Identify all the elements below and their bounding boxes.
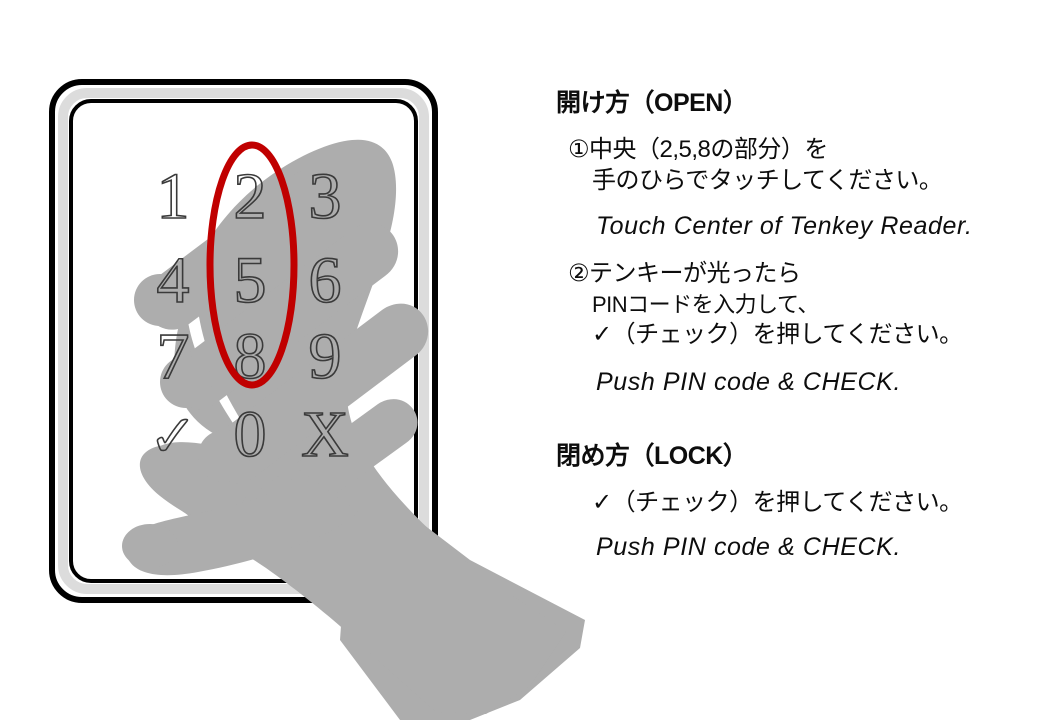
keypad-glyphs: 1 2 3 4 5 6 7 8 9 ✓ 0 X [149,160,349,471]
lock-step-1-english: Push PIN code & CHECK. [596,533,901,562]
key-4[interactable]: 4 [157,244,190,317]
key-5[interactable]: 5 [234,244,267,317]
open-step-2-marker: ② [568,260,589,287]
open-step-2-english: Push PIN code & CHECK. [596,368,901,397]
open-step-2-line-3: ✓（チェック）を押してください。 [592,320,963,351]
key-2[interactable]: 2 [234,160,267,233]
key-6[interactable]: 6 [309,244,342,317]
tenkey-illustration: 1 2 3 4 5 6 7 8 9 ✓ 0 X [0,0,600,720]
key-0[interactable]: 0 [234,398,267,471]
lock-step-1-line-1: ✓（チェック）を押してください。 [592,488,963,519]
instructions-column: 開け方（OPEN） ①中央（2,5,8の部分）を 手のひらでタッチしてください。… [540,0,1040,720]
key-x[interactable]: X [301,398,349,471]
open-step-1-text-1: 中央（2,5,8の部分）を [589,136,828,163]
open-section-heading: 開け方（OPEN） [556,90,747,118]
open-step-1-marker: ① [568,136,589,163]
lock-section-heading: 閉め方（LOCK） [556,443,747,471]
illustration-page: 1 2 3 4 5 6 7 8 9 ✓ 0 X 開け方（OPEN） [0,0,1040,720]
open-step-2-line-2: PINコードを入力して、 [592,291,819,319]
key-1[interactable]: 1 [157,160,190,233]
open-step-2-line-1: ②テンキーが光ったら [568,259,801,290]
open-step-1-line-1: ①中央（2,5,8の部分）を [568,135,828,166]
key-7[interactable]: 7 [157,320,190,393]
key-9[interactable]: 9 [309,320,342,393]
open-step-2-text-1: テンキーが光ったら [589,260,801,287]
open-step-1-english: Touch Center of Tenkey Reader. [596,212,973,241]
open-step-1-line-2: 手のひらでタッチしてください。 [592,166,942,197]
key-3[interactable]: 3 [309,160,342,233]
key-check[interactable]: ✓ [149,404,198,469]
